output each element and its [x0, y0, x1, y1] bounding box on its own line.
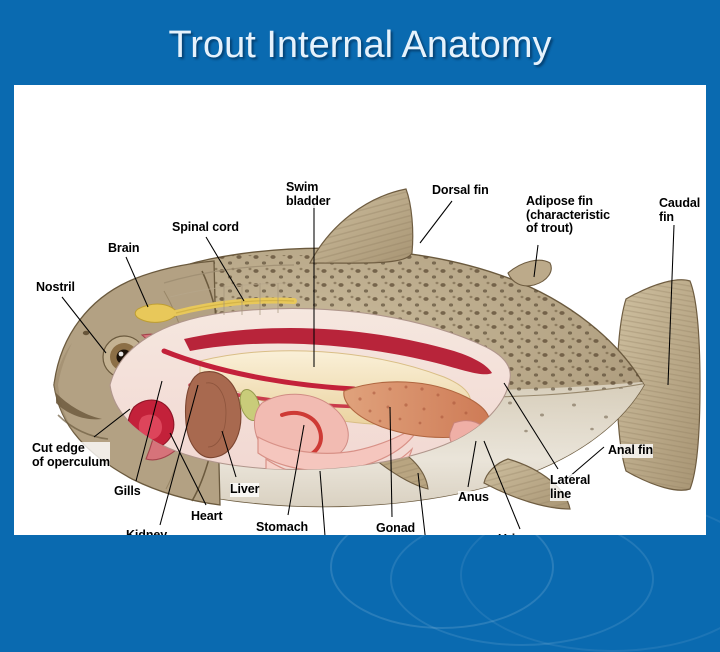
- label-dorsal-fin: Dorsal fin: [432, 184, 489, 198]
- label-kidney: Kidney: [126, 529, 167, 535]
- label-liver: Liver: [230, 483, 259, 497]
- label-anus: Anus: [458, 491, 489, 505]
- label-nostril: Nostril: [36, 281, 75, 295]
- label-brain: Brain: [108, 242, 139, 256]
- slide-root: Trout Internal Anatomy: [0, 0, 720, 540]
- label-swim-bladder: Swim bladder: [286, 181, 330, 208]
- figure-panel: NostrilBrainSpinal cordSwim bladderDorsa…: [14, 85, 706, 535]
- label-gonad: Gonad: [376, 522, 415, 535]
- label-spinal-cord: Spinal cord: [172, 221, 239, 235]
- leader-dorsal-fin: [420, 201, 452, 243]
- label-stomach: Stomach: [256, 521, 308, 535]
- label-lateral-line: Lateral line: [550, 474, 590, 501]
- label-cut-edge-operculum: Cut edge of operculum: [32, 442, 110, 469]
- label-caudal-fin: Caudal fin: [659, 197, 700, 224]
- nostril-shape: [83, 331, 89, 335]
- label-gills: Gills: [114, 485, 141, 499]
- label-heart: Heart: [191, 510, 222, 524]
- adipose-fin-shape: [508, 260, 551, 286]
- label-urinary-bladder: Urinary bladder: [498, 533, 542, 535]
- trout-anatomy-illustration: [14, 85, 706, 535]
- label-adipose-fin: Adipose fin (characteristic of trout): [526, 195, 610, 236]
- liver-shape: [186, 372, 241, 458]
- page-title: Trout Internal Anatomy: [0, 24, 720, 67]
- label-anal-fin: Anal fin: [608, 444, 653, 458]
